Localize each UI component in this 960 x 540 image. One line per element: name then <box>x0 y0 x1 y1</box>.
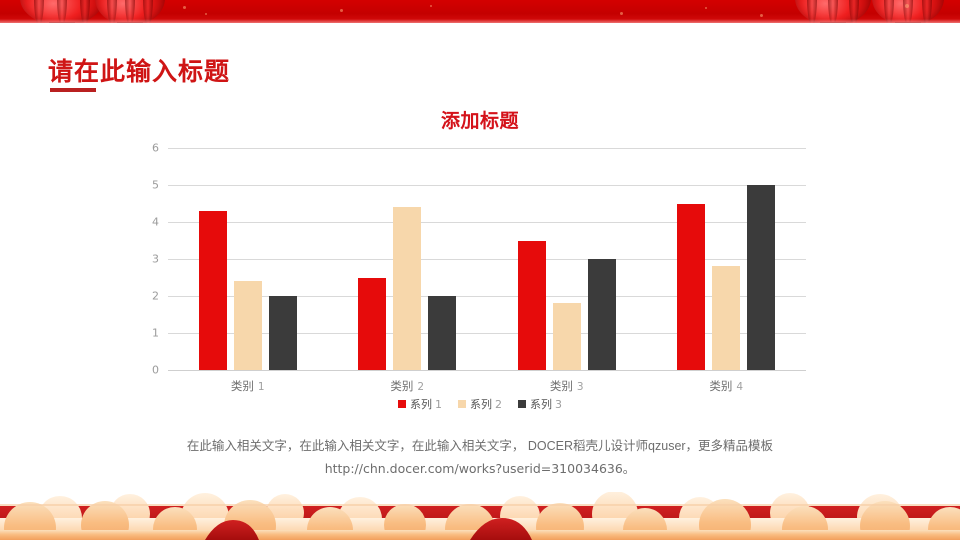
page-title: 请在此输入标题 <box>48 52 230 88</box>
y-axis-tick-label: 4 <box>152 216 159 229</box>
legend-item-series-1[interactable]: 系列1 <box>398 396 442 412</box>
bar-series-1[interactable] <box>199 211 227 370</box>
legend-item-series-2[interactable]: 系列2 <box>458 396 502 412</box>
confetti-dot-icon <box>760 14 763 17</box>
bar-series-3[interactable] <box>428 296 456 370</box>
footer-text: 在此输入相关文字，在此输入相关文字，在此输入相关文字， DOCER稻壳儿设计师q… <box>0 436 960 480</box>
y-axis-tick-label: 5 <box>152 179 159 192</box>
y-axis-tick-label: 6 <box>152 142 159 155</box>
x-axis-tick-label: 类别3 <box>487 378 647 394</box>
bar-series-1[interactable] <box>677 204 705 371</box>
bar-series-1[interactable] <box>358 278 386 371</box>
cloud-pattern-icon <box>0 492 960 540</box>
legend-label: 系列2 <box>470 396 502 412</box>
top-decorative-banner <box>0 0 960 23</box>
confetti-dot-icon <box>183 6 186 9</box>
bar-group: 类别2 <box>328 148 488 370</box>
confetti-dot-icon <box>430 5 432 7</box>
legend-label: 系列3 <box>530 396 562 412</box>
chart-legend: 系列1系列2系列3 <box>0 396 960 412</box>
confetti-dot-icon <box>905 4 909 8</box>
bar-group: 类别1 <box>168 148 328 370</box>
legend-item-series-3[interactable]: 系列3 <box>518 396 562 412</box>
legend-swatch-icon <box>518 400 526 408</box>
chart-bar-groups: 类别1类别2类别3类别4 <box>168 148 806 370</box>
gridline <box>168 370 806 371</box>
x-axis-tick-label: 类别2 <box>328 378 488 394</box>
bar-series-2[interactable] <box>712 266 740 370</box>
confetti-dot-icon <box>340 9 343 12</box>
bar-series-2[interactable] <box>234 281 262 370</box>
bar-series-1[interactable] <box>518 241 546 371</box>
y-axis-tick-label: 3 <box>152 253 159 266</box>
title-underline <box>50 88 96 92</box>
slide: 请在此输入标题 添加标题 6543210 类别1类别2类别3类别4 系列1系列2… <box>0 0 960 540</box>
bar-group: 类别4 <box>647 148 807 370</box>
x-axis-tick-label: 类别1 <box>168 378 328 394</box>
confetti-dot-icon <box>620 12 623 15</box>
legend-swatch-icon <box>398 400 406 408</box>
legend-swatch-icon <box>458 400 466 408</box>
footer-line-1: 在此输入相关文字，在此输入相关文字，在此输入相关文字， DOCER稻壳儿设计师q… <box>0 436 960 458</box>
x-axis-tick-label: 类别4 <box>647 378 807 394</box>
legend-label: 系列1 <box>410 396 442 412</box>
confetti-dot-icon <box>205 13 207 15</box>
y-axis-tick-label: 0 <box>152 364 159 377</box>
bar-series-3[interactable] <box>747 185 775 370</box>
bottom-decorative-band <box>0 492 960 540</box>
bar-group: 类别3 <box>487 148 647 370</box>
footer-line-2: http://chn.docer.com/works?userid=310034… <box>0 458 960 480</box>
bar-series-3[interactable] <box>269 296 297 370</box>
y-axis-tick-label: 1 <box>152 327 159 340</box>
bar-series-2[interactable] <box>553 303 581 370</box>
chart-title: 添加标题 <box>0 106 960 133</box>
bar-series-2[interactable] <box>393 207 421 370</box>
bar-series-3[interactable] <box>588 259 616 370</box>
confetti-dot-icon <box>705 7 707 9</box>
y-axis-tick-label: 2 <box>152 290 159 303</box>
bar-chart: 6543210 类别1类别2类别3类别4 <box>168 148 806 370</box>
